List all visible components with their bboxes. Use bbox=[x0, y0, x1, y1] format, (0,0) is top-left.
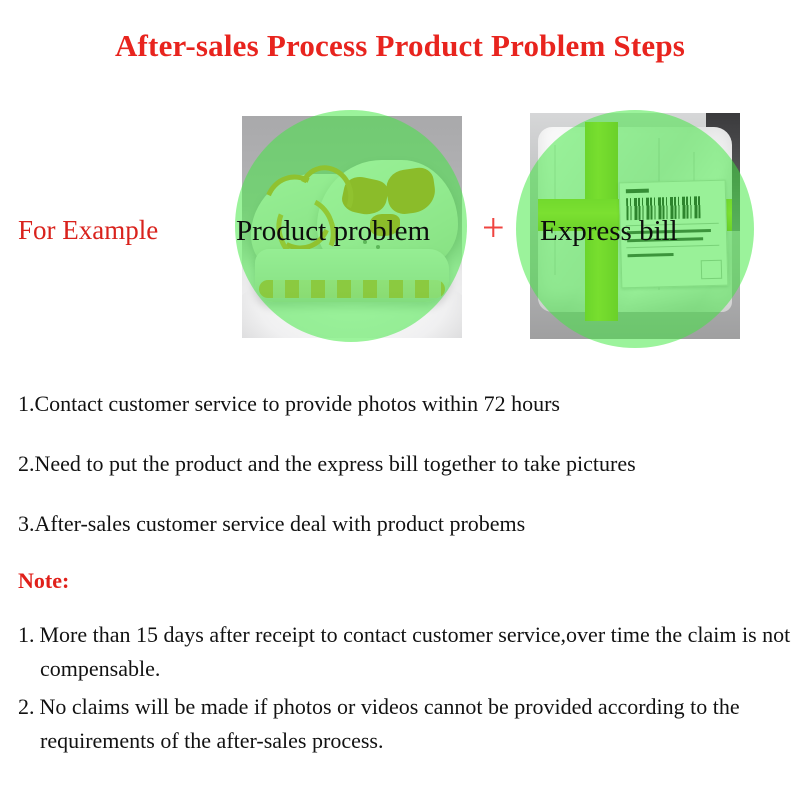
step-item: 2.Need to put the product and the expres… bbox=[18, 452, 788, 476]
note-heading: Note: bbox=[18, 568, 69, 594]
steps-list: 1.Contact customer service to provide ph… bbox=[18, 392, 788, 573]
label-header-bar bbox=[626, 189, 649, 194]
note-item-text: No claims will be made if photos or vide… bbox=[40, 694, 740, 753]
page-title: After-sales Process Product Problem Step… bbox=[0, 28, 800, 64]
note-item: 1.More than 15 days after receipt to con… bbox=[18, 618, 793, 686]
step-item: 3.After-sales customer service deal with… bbox=[18, 512, 788, 536]
example-section: For Example bbox=[0, 110, 800, 345]
for-example-label: For Example bbox=[18, 215, 158, 246]
shoe-sole bbox=[255, 249, 449, 302]
plus-icon: + bbox=[482, 208, 505, 248]
note-item-number: 1. bbox=[18, 622, 35, 647]
express-bill-caption: Express bill bbox=[540, 215, 678, 248]
label-signature-box bbox=[701, 260, 722, 279]
note-item: 2.No claims will be made if photos or vi… bbox=[18, 690, 793, 758]
step-item: 1.Contact customer service to provide ph… bbox=[18, 392, 788, 416]
label-textline bbox=[628, 252, 674, 256]
note-item-text: More than 15 days after receipt to conta… bbox=[40, 622, 791, 681]
note-list: 1.More than 15 days after receipt to con… bbox=[18, 618, 793, 762]
note-item-number: 2. bbox=[18, 694, 35, 719]
product-problem-caption: Product problem bbox=[236, 215, 430, 248]
